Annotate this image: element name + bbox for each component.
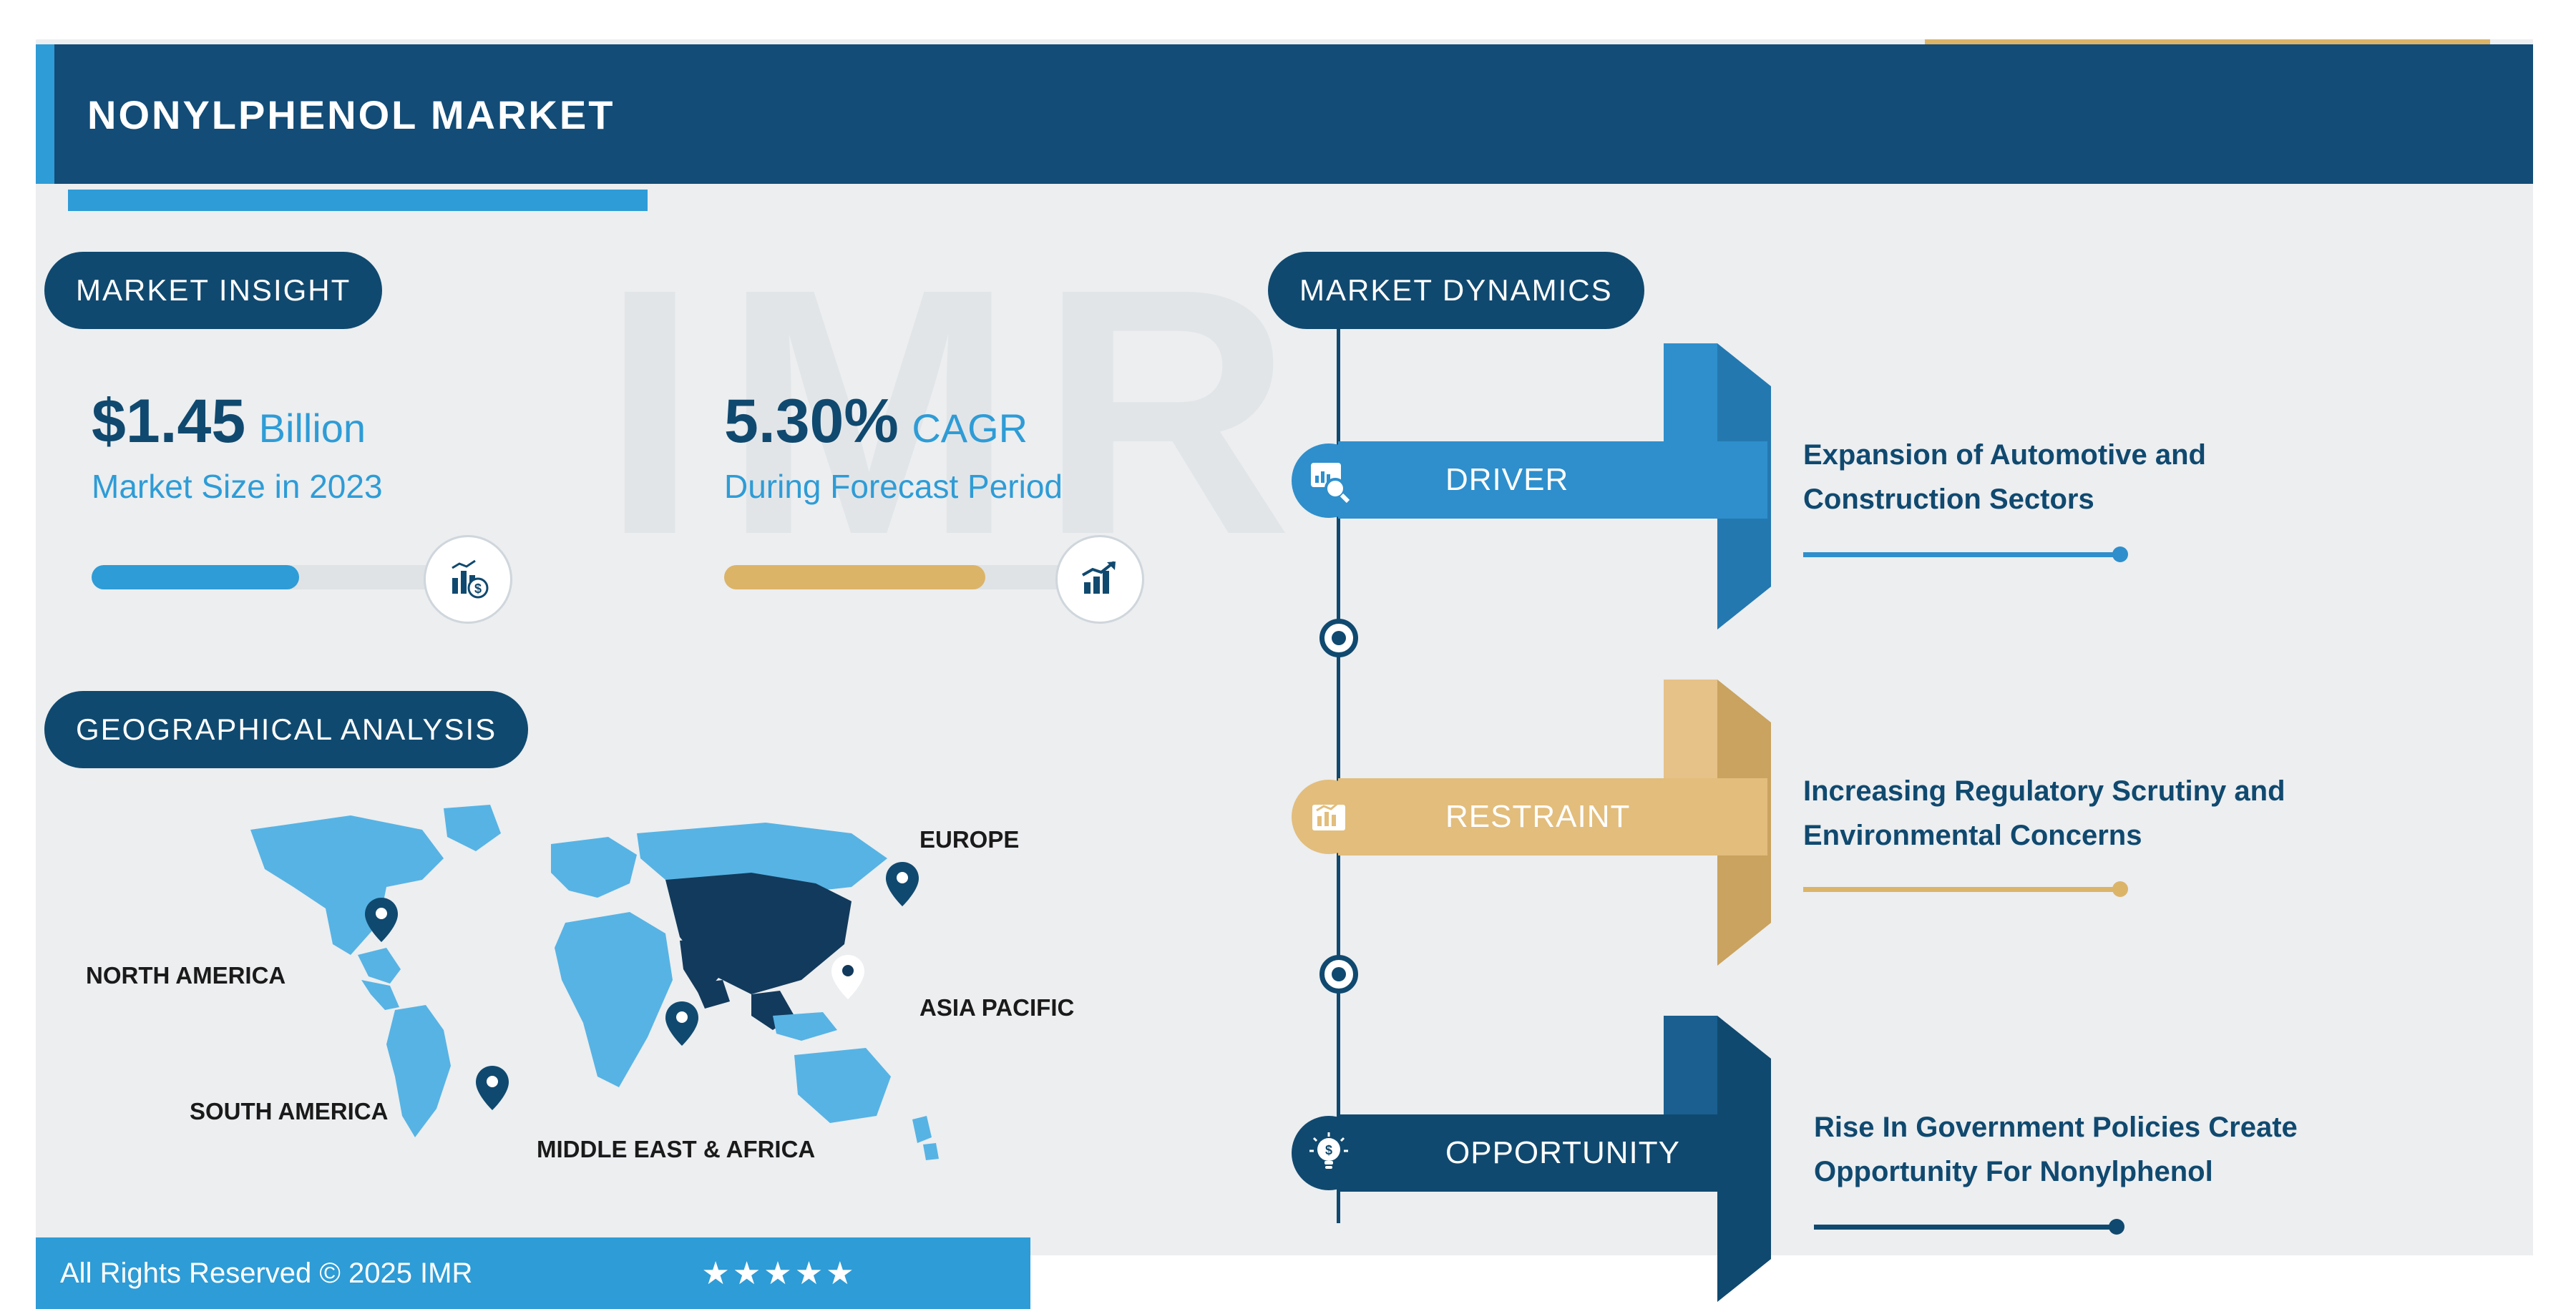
restraint-label: RESTRAINT <box>1445 799 1630 835</box>
map-pin-middle-east-africa <box>665 1001 698 1046</box>
map-label-europe: EUROPE <box>919 826 1019 853</box>
driver-label: DRIVER <box>1445 462 1568 498</box>
restraint-bar: RESTRAINT <box>1338 778 1767 855</box>
stat-market-size: $1.45 Billion Market Size in 2023 <box>92 386 383 506</box>
analytics-search-icon <box>1292 443 1366 518</box>
stat-value: $1.45 <box>92 387 245 456</box>
footer-copyright: All Rights Reserved © 2025 IMR <box>60 1257 472 1290</box>
opportunity-dot <box>2109 1219 2124 1235</box>
section-label-geographical: GEOGRAPHICAL ANALYSIS <box>44 691 528 768</box>
driver-underline <box>1803 552 2118 557</box>
driver-dot <box>2112 546 2128 562</box>
page-title: NONYLPHENOL MARKET <box>87 92 615 138</box>
map-pin-south-america <box>476 1066 509 1110</box>
restraint-underline <box>1803 887 2118 892</box>
opportunity-label: OPPORTUNITY <box>1445 1135 1680 1171</box>
factory-bar-icon <box>1292 780 1366 854</box>
growth-arrow-icon <box>1055 535 1144 624</box>
opportunity-underline <box>1814 1225 2114 1230</box>
infographic-page: IMR PROSPECTIVE MARKET RESEARCH NONYLPHE… <box>0 0 2576 1309</box>
map-pin-asia-pacific <box>831 955 864 999</box>
footer: All Rights Reserved © 2025 IMR ★★★★★ <box>36 1237 1030 1309</box>
restraint-text: Increasing Regulatory Scrutiny and Envir… <box>1803 769 2376 858</box>
section-label-market-dynamics: MARKET DYNAMICS <box>1268 252 1644 329</box>
geographical-label: GEOGRAPHICAL ANALYSIS <box>76 712 497 747</box>
driver-text: Expansion of Automotive and Construction… <box>1803 433 2347 521</box>
stat-unit: CAGR <box>912 406 1028 451</box>
map-pin-north-america <box>365 898 398 942</box>
footer-rating-stars: ★★★★★ <box>701 1255 857 1292</box>
map-pin-europe <box>886 862 919 906</box>
svg-text:$: $ <box>474 582 482 596</box>
market-insight-label: MARKET INSIGHT <box>76 273 351 308</box>
stat-value: 5.30% <box>724 387 899 456</box>
lightbulb-dollar-icon: $ <box>1292 1116 1366 1190</box>
driver-bar: DRIVER <box>1338 441 1767 519</box>
opportunity-text: Rise In Government Policies Create Oppor… <box>1814 1105 2401 1194</box>
market-dynamics-label: MARKET DYNAMICS <box>1299 273 1613 308</box>
background-blue-strip <box>68 190 648 211</box>
stat-caption: During Forecast Period <box>724 467 1063 506</box>
map-label-middle-east-africa: MIDDLE EAST & AFRICA <box>537 1136 815 1163</box>
section-label-market-insight: MARKET INSIGHT <box>44 252 382 329</box>
progress-fill-market-size <box>92 565 299 589</box>
map-label-south-america: SOUTH AMERICA <box>190 1098 388 1125</box>
stat-cagr: 5.30% CAGR During Forecast Period <box>724 386 1063 506</box>
bar-chart-dollar-icon: $ <box>424 535 512 624</box>
dynamics-node-1 <box>1319 619 1358 657</box>
map-label-north-america: NORTH AMERICA <box>86 962 286 989</box>
stat-caption: Market Size in 2023 <box>92 467 383 506</box>
map-label-asia-pacific: ASIA PACIFIC <box>919 994 1074 1021</box>
progress-fill-cagr <box>724 565 985 589</box>
restraint-dot <box>2112 881 2128 897</box>
stat-unit: Billion <box>259 406 366 451</box>
header-accent <box>36 44 54 184</box>
dynamics-node-2 <box>1319 955 1358 994</box>
svg-text:$: $ <box>1325 1143 1332 1157</box>
opportunity-bar: OPPORTUNITY <box>1338 1114 1767 1192</box>
